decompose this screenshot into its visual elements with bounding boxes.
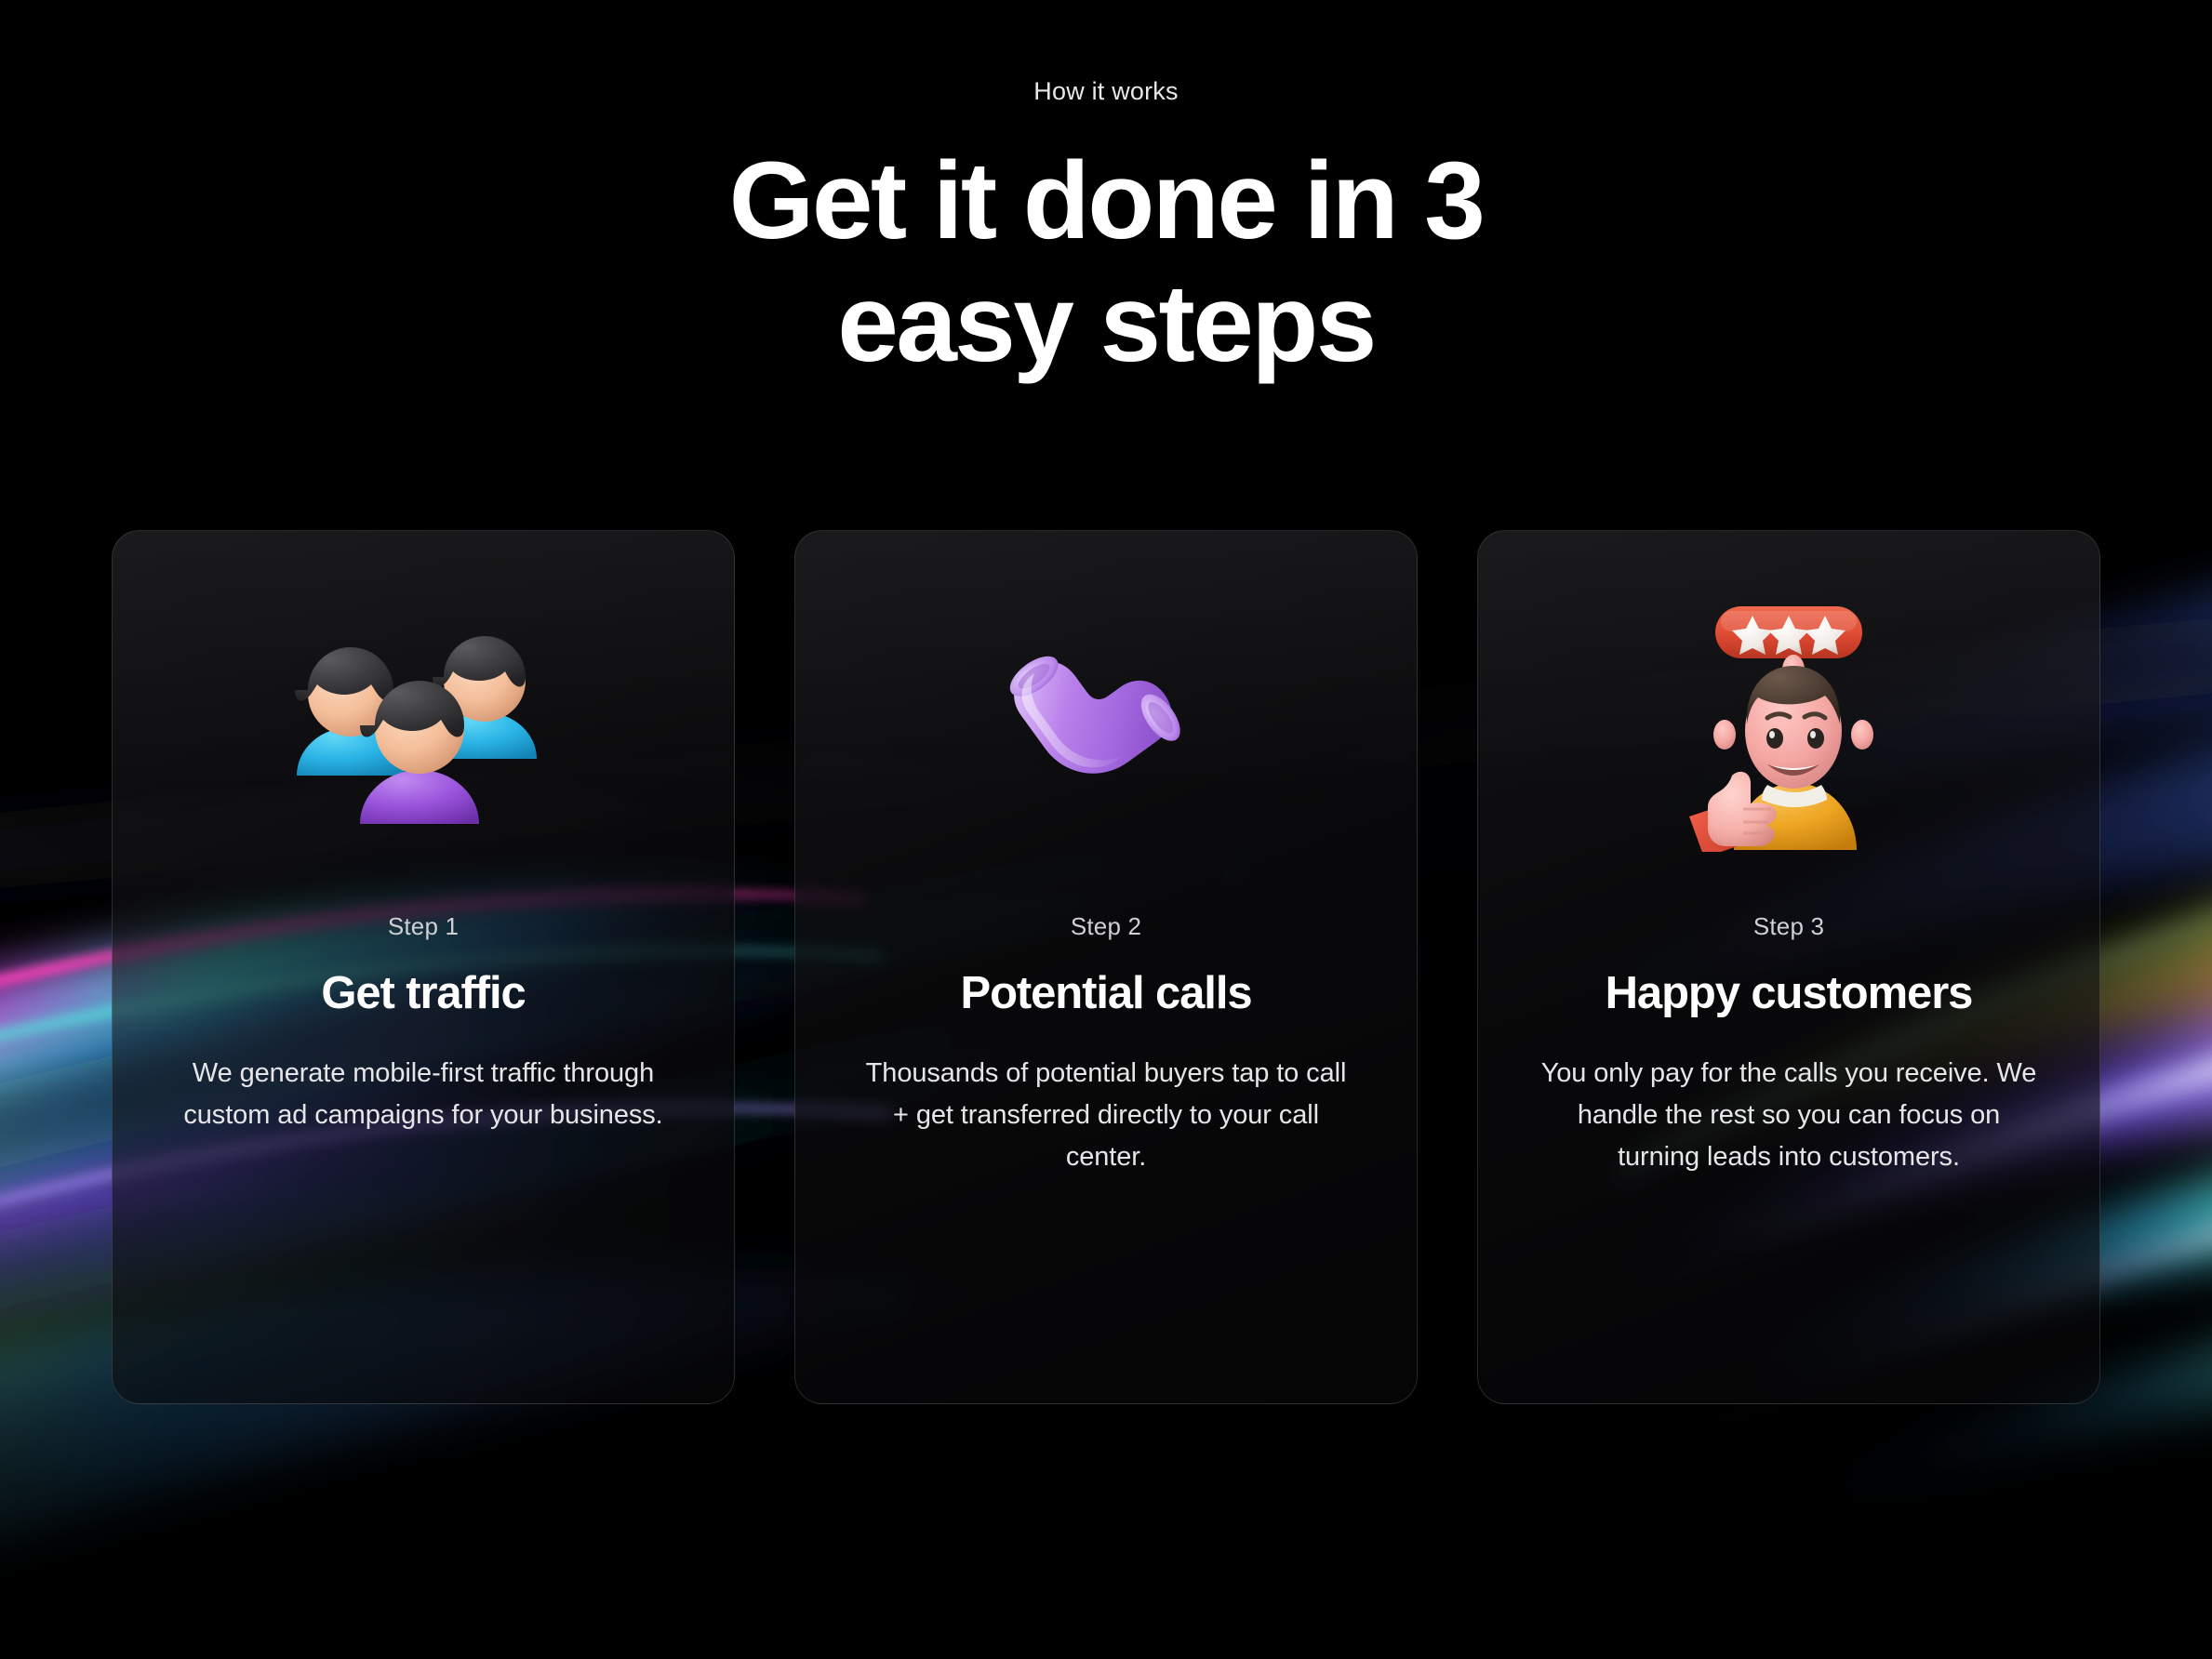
customer-head [1713, 655, 1873, 789]
happy-customer-thumbs-up-3d-icon [1478, 531, 2099, 922]
step-label: Step 3 [1753, 912, 1824, 941]
how-it-works-section: How it works Get it done in 3 easy steps [0, 0, 2212, 1659]
card-title: Get traffic [321, 967, 525, 1019]
card-description: You only pay for the calls you receive. … [1540, 1053, 2037, 1178]
step-card-1[interactable]: Step 1 Get traffic We generate mobile-fi… [112, 530, 735, 1404]
headline-line-1: Get it done in 3 [0, 139, 2212, 262]
steps-card-grid: Step 1 Get traffic We generate mobile-fi… [112, 530, 2100, 1404]
happy-customer-illustration [1663, 601, 1914, 852]
step-label: Step 2 [1071, 912, 1141, 941]
page-title: Get it done in 3 easy steps [0, 139, 2212, 385]
telephone-handset-3d-icon [795, 531, 1417, 922]
people-group-illustration [284, 619, 563, 833]
telephone-handset-illustration [990, 619, 1222, 833]
section-eyebrow: How it works [0, 77, 2212, 106]
step-card-2[interactable]: Step 2 Potential calls Thousands of pote… [794, 530, 1418, 1404]
card-description: Thousands of potential buyers tap to cal… [858, 1053, 1354, 1178]
handset-body [999, 619, 1191, 805]
step-label: Step 1 [388, 912, 459, 941]
thumbs-up-hand [1689, 772, 1777, 852]
card-title: Potential calls [960, 967, 1251, 1019]
card-title: Happy customers [1606, 967, 1973, 1019]
card-description: We generate mobile-first traffic through… [175, 1053, 672, 1136]
step-card-3[interactable]: Step 3 Happy customers You only pay for … [1477, 530, 2100, 1404]
people-group-3d-icon [113, 531, 734, 922]
headline-line-2: easy steps [0, 262, 2212, 385]
rating-badge [1715, 606, 1862, 658]
